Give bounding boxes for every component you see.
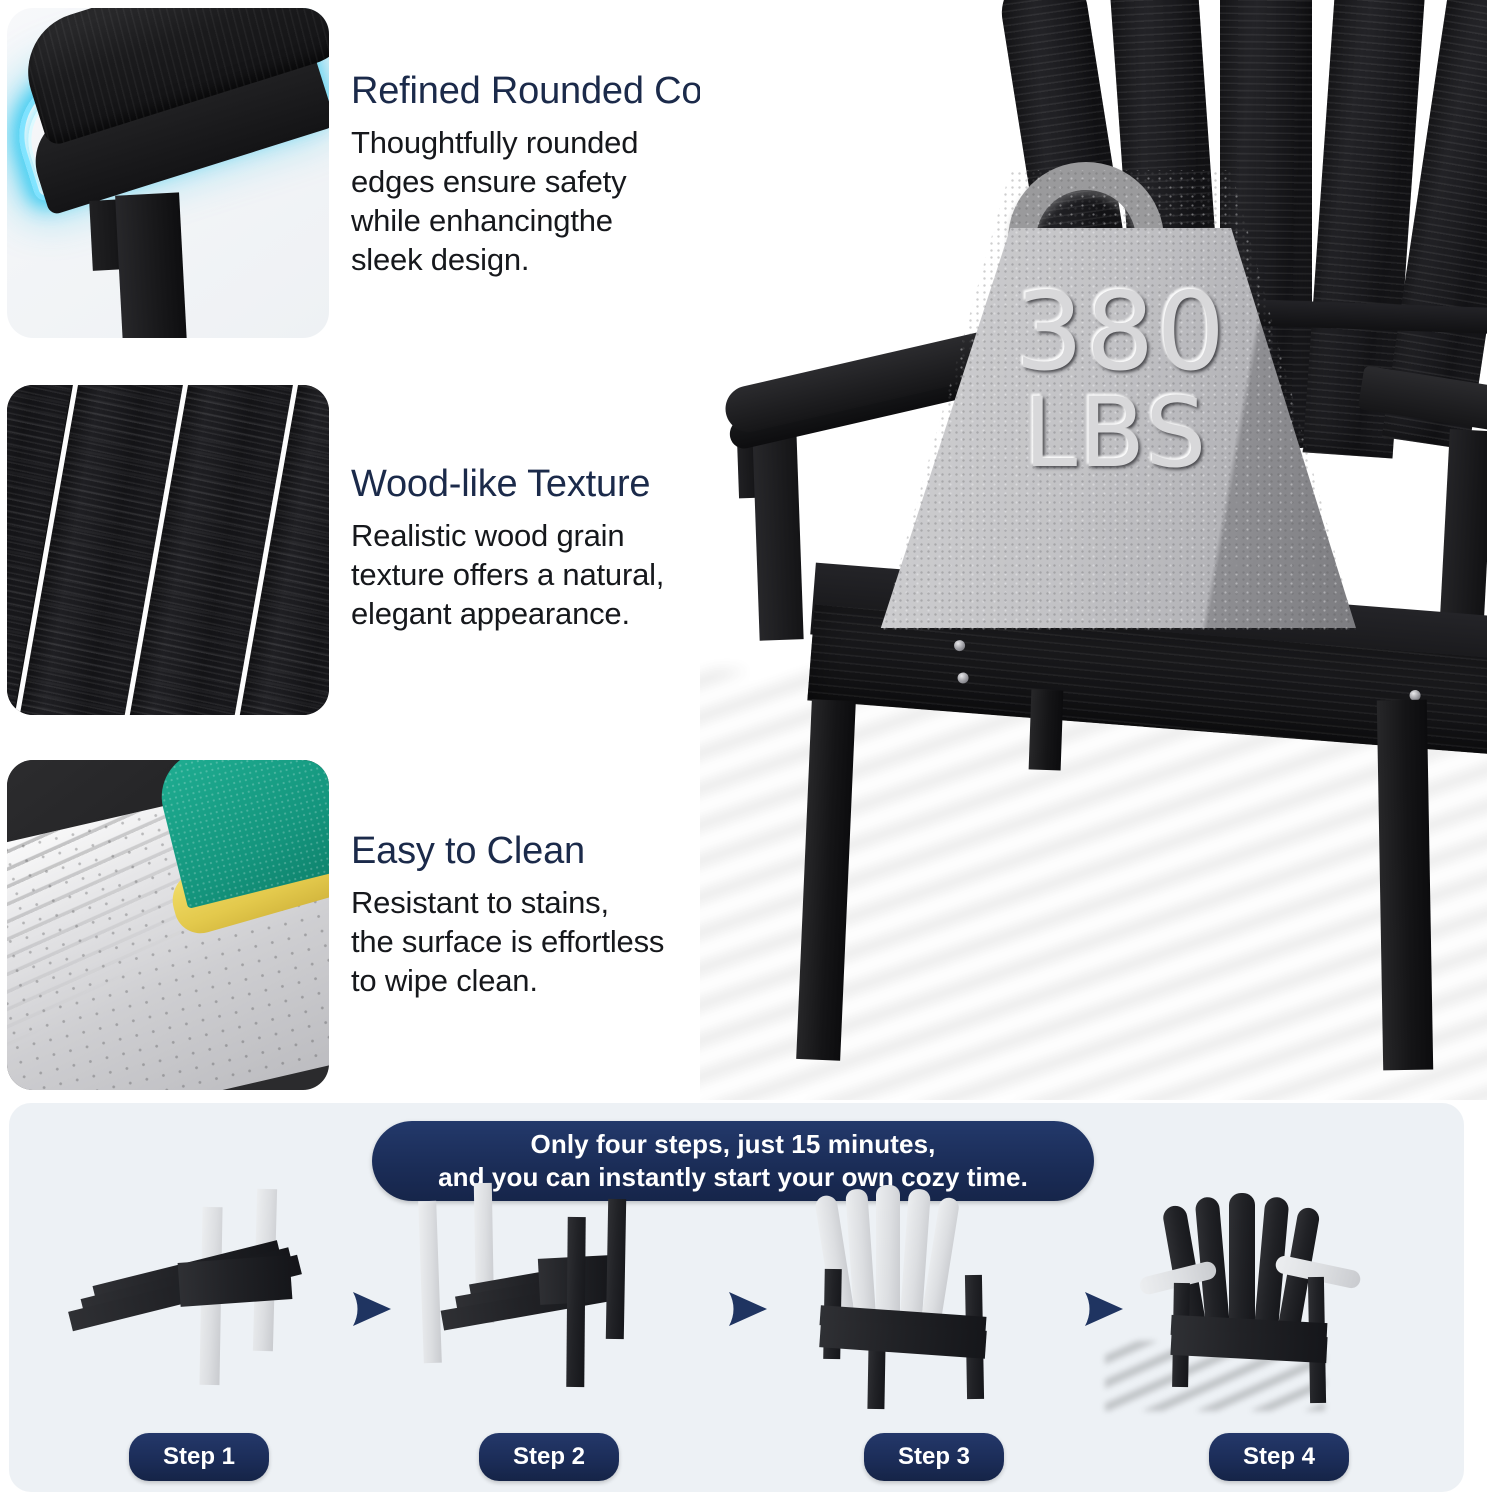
- wood-grain-slats-photo: [7, 385, 329, 715]
- step-4-label: Step 4: [1209, 1433, 1349, 1481]
- rounded-corner-armrest-photo: [7, 8, 329, 338]
- screw-icon: [957, 672, 969, 684]
- banner-line-2: and you can instantly start your own coz…: [438, 1161, 1028, 1194]
- chair-leg-part: [418, 1201, 442, 1364]
- armrest-left-post: [752, 429, 803, 640]
- step-3-label: Step 3: [864, 1433, 1004, 1481]
- weight-capacity-block: 380 LBS: [876, 170, 1356, 630]
- assembly-step-2: Step 2: [399, 1211, 699, 1491]
- step-2-illustration: [399, 1211, 699, 1416]
- infographic-page: Refined Rounded Corners Thoughtfully rou…: [0, 0, 1487, 1500]
- feature-refined-rounded-corners: Refined Rounded Corners Thoughtfully rou…: [0, 8, 820, 338]
- weight-stone-texture: [876, 170, 1356, 630]
- armrest-support-post: [115, 192, 187, 338]
- banner-line-1: Only four steps, just 15 minutes,: [531, 1128, 936, 1161]
- feature-list: Refined Rounded Corners Thoughtfully rou…: [0, 0, 820, 1100]
- hero-product-image: 380 LBS: [700, 0, 1487, 1100]
- arrow-right-icon: [723, 1286, 769, 1332]
- chair-leg-front-right: [1377, 700, 1433, 1071]
- feature-easy-to-clean: Easy to Clean Resistant to stains, the s…: [0, 760, 820, 1090]
- assembly-step-4: Step 4: [1129, 1211, 1429, 1491]
- arrow-right-icon: [1079, 1286, 1125, 1332]
- chair-leg-back-middle: [1029, 689, 1064, 770]
- step-2-label: Step 2: [479, 1433, 619, 1481]
- assembly-step-3: Step 3: [784, 1211, 1084, 1491]
- step-1-illustration: [49, 1211, 349, 1416]
- step-4-illustration: [1129, 1211, 1429, 1416]
- chair-leg-part: [606, 1199, 626, 1339]
- assembly-steps: Step 1 Step 2: [9, 1211, 1464, 1491]
- screw-icon: [954, 640, 966, 652]
- step-1-label: Step 1: [129, 1433, 269, 1481]
- arrow-right-icon: [347, 1286, 393, 1332]
- assembly-step-1: Step 1: [49, 1211, 349, 1491]
- step-3-illustration: [784, 1211, 1084, 1416]
- feature-wood-like-texture: Wood-like Texture Realistic wood grain t…: [0, 385, 820, 715]
- chair-leg-part: [566, 1217, 585, 1387]
- assembly-panel: Only four steps, just 15 minutes, and yo…: [9, 1103, 1464, 1492]
- seat-apron-part: [178, 1255, 293, 1307]
- sponge-cleaning-photo: [7, 760, 329, 1090]
